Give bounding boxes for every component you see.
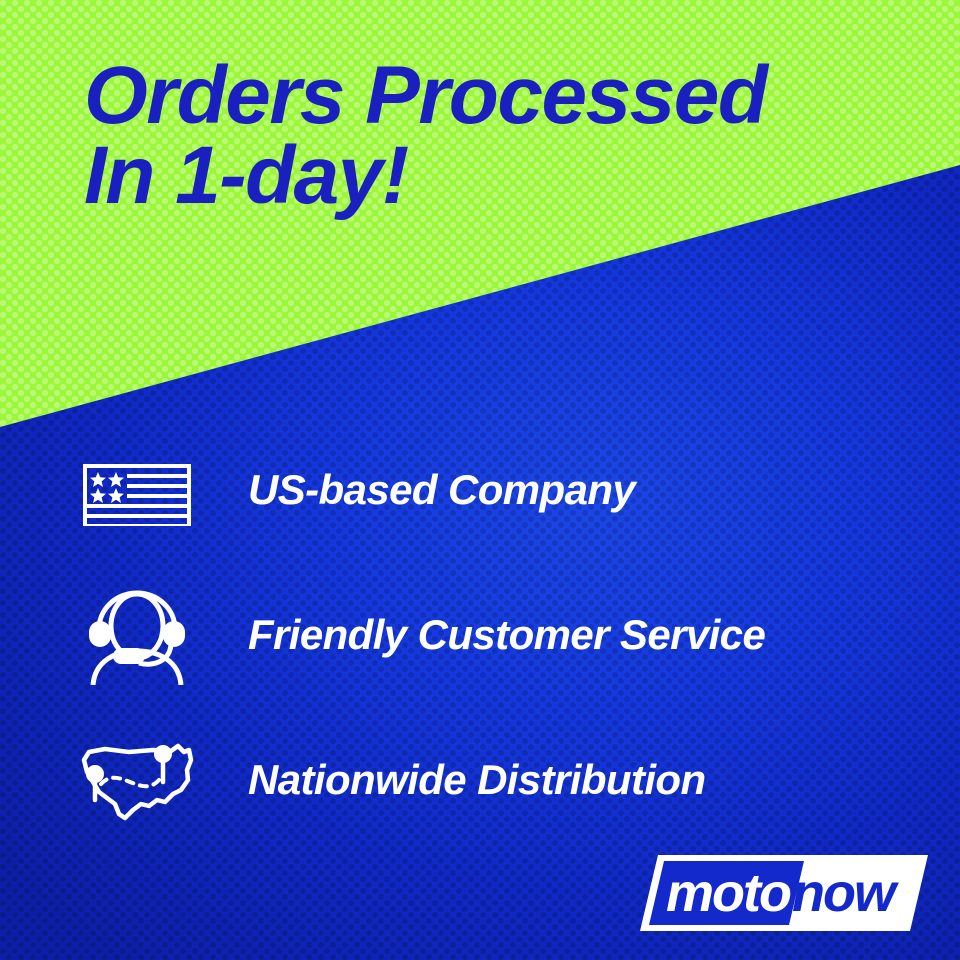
- motonow-logo[interactable]: moto now: [640, 855, 928, 931]
- list-item: US-based Company: [0, 440, 960, 585]
- list-item: Friendly Customer Service: [0, 585, 960, 730]
- promo-banner: Orders Processed In 1-day!: [0, 0, 960, 960]
- feature-label: Friendly Customer Service: [248, 585, 765, 685]
- headline: Orders Processed In 1-day!: [84, 56, 914, 217]
- feature-label: Nationwide Distribution: [248, 730, 706, 830]
- logo-text-now: now: [792, 863, 899, 923]
- feature-list: US-based Company: [0, 440, 960, 875]
- list-item: Nationwide Distribution: [0, 730, 960, 875]
- headset-support-icon: [72, 585, 202, 685]
- us-map-pins-icon: [72, 730, 202, 830]
- feature-label: US-based Company: [248, 440, 635, 540]
- logo-text-moto: moto: [666, 863, 791, 923]
- us-flag-icon: [72, 440, 202, 540]
